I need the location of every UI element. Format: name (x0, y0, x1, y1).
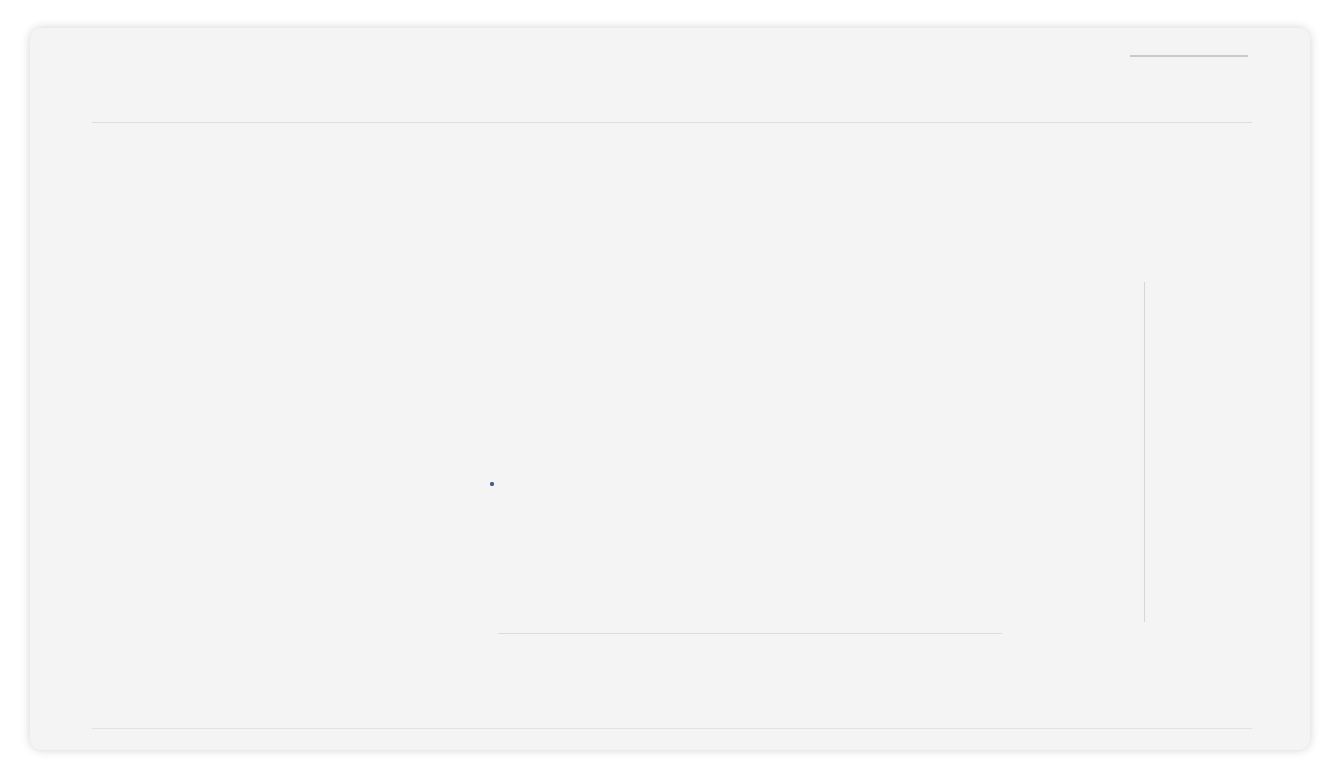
gender-section (90, 268, 470, 290)
city-section (480, 268, 1020, 284)
occupation-section (1020, 256, 1310, 622)
occupation-chart (1020, 282, 1310, 622)
watermark (130, 381, 143, 385)
age-pie-chart (272, 462, 452, 642)
income-highlight-box (490, 482, 494, 486)
infographic-slide (30, 28, 1310, 750)
watermark (590, 376, 603, 380)
income-section (490, 464, 1010, 662)
logo-underline (1130, 55, 1248, 57)
age-chart-body (90, 462, 480, 642)
age-section (90, 448, 480, 642)
slide-header (30, 28, 1310, 116)
income-bars (490, 498, 1010, 634)
occupation-axis-line (1144, 282, 1145, 622)
watermark (590, 191, 603, 195)
income-chart (490, 482, 1010, 662)
footer-divider (92, 728, 1252, 729)
watermark (148, 204, 161, 208)
watermark (1070, 201, 1083, 205)
brand-logo (1130, 50, 1248, 57)
header-divider (92, 122, 1252, 123)
